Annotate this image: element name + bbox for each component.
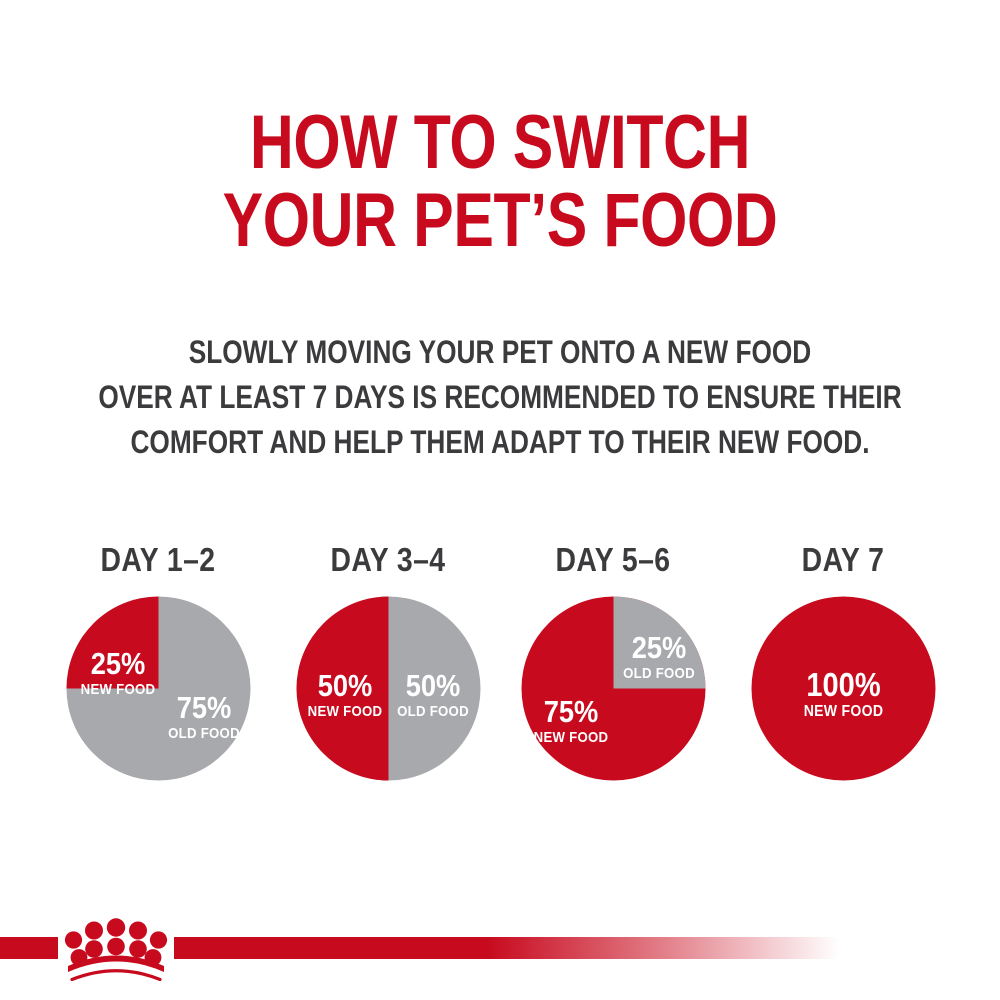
pie-slice-new-food [296, 597, 388, 781]
day-label-3: DAY 5–6 [527, 542, 699, 582]
royal-canin-crown-logo [58, 915, 174, 981]
pie-day-1-2: 25% NEW FOOD 75% OLD FOOD [66, 596, 251, 781]
pie-svg-day-1-2 [66, 596, 251, 781]
crown-icon [58, 915, 174, 981]
pie-svg-day-5-6 [521, 596, 706, 781]
pie-slice-new-food [751, 597, 935, 781]
chart-panel-day-3-4: DAY 3–4 50% NEW FOOD 50% OLD FOOD [288, 542, 488, 781]
subtitle: SLOWLY MOVING YOUR PET ONTO A NEW FOOD O… [0, 330, 1000, 465]
pie-day-7: 100% NEW FOOD [751, 596, 936, 781]
subtitle-line-2: OVER AT LEAST 7 DAYS IS RECOMMENDED TO E… [90, 375, 910, 420]
chart-panel-day-5-6: DAY 5–6 25% OLD FOOD 75% NEW FOOD [513, 542, 713, 781]
title-line-1: HOW TO SWITCH [100, 104, 900, 182]
subtitle-line-3: COMFORT AND HELP THEM ADAPT TO THEIR NEW… [90, 420, 910, 465]
title-line-2: YOUR PET’S FOOD [100, 182, 900, 260]
pie-chart-row: DAY 1–2 25% NEW FOOD 75% OLD FOOD DAY 3–… [0, 542, 1000, 812]
page-title: HOW TO SWITCH YOUR PET’S FOOD [0, 104, 1000, 260]
day-label-1: DAY 1–2 [72, 542, 244, 582]
subtitle-line-1: SLOWLY MOVING YOUR PET ONTO A NEW FOOD [90, 330, 910, 375]
pie-day-5-6: 25% OLD FOOD 75% NEW FOOD [521, 596, 706, 781]
pie-svg-day-7 [751, 596, 936, 781]
pie-slice-old-food [613, 597, 705, 689]
chart-panel-day-1-2: DAY 1–2 25% NEW FOOD 75% OLD FOOD [58, 542, 258, 781]
pie-svg-day-3-4 [296, 596, 481, 781]
pie-slice-new-food [66, 597, 158, 689]
day-label-4: DAY 7 [757, 542, 929, 582]
chart-panel-day-7: DAY 7 100% NEW FOOD [743, 542, 943, 781]
pie-day-3-4: 50% NEW FOOD 50% OLD FOOD [296, 596, 481, 781]
day-label-2: DAY 3–4 [302, 542, 474, 582]
